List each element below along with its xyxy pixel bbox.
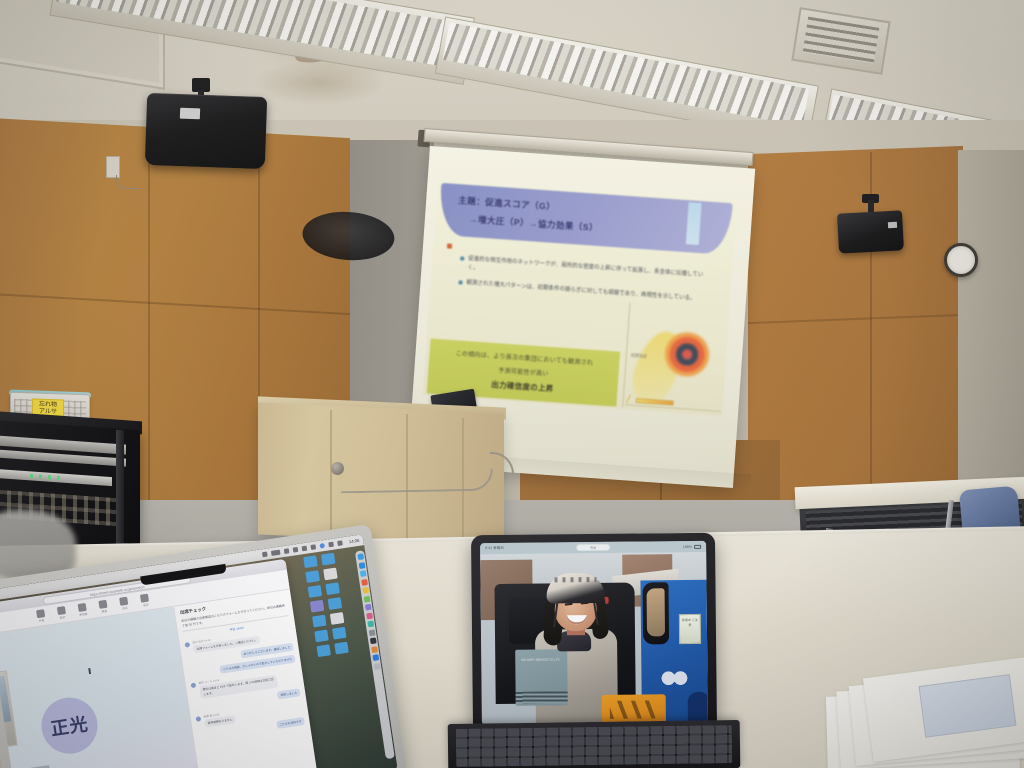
- ipad-screen[interactable]: 配達中 ご注意 DELIVERY SERVICE CO.,LTD.: [480, 541, 708, 725]
- music-icon[interactable]: [366, 612, 373, 619]
- photo-truck-sign-text: 配達中 ご注意: [681, 618, 699, 627]
- photo-viewer-image[interactable]: 配達中 ご注意 DELIVERY SERVICE CO.,LTD.: [480, 552, 708, 725]
- app-icon[interactable]: [310, 600, 324, 613]
- avatar: [191, 683, 197, 689]
- menubar-icon[interactable]: [283, 548, 289, 554]
- avatar: [184, 642, 190, 648]
- photo-crate-slots: [610, 700, 658, 719]
- rack-rail: [116, 430, 124, 549]
- toolbar-button-label: 表示: [59, 615, 65, 620]
- safari-icon[interactable]: [358, 562, 365, 569]
- lectern-cable: [341, 469, 493, 494]
- wall-speaker-right: [837, 210, 904, 253]
- wall-clock-icon: [944, 243, 978, 277]
- wall-speaker-left: [145, 93, 267, 169]
- folder-icon[interactable]: [321, 553, 335, 566]
- photo-truck-logo: [659, 670, 689, 686]
- toolbar-button[interactable]: 参加者: [78, 603, 88, 617]
- lectern-seam: [330, 410, 332, 538]
- slide-section-marker: [447, 243, 452, 248]
- lecture-room-scene: 主題：促進スコア（G） →増大圧（P）→協力効果（S） 促進的な相互作用のネット…: [0, 0, 1024, 768]
- ipad-magic-keyboard[interactable]: [448, 720, 741, 768]
- ipad-tablet[interactable]: 配達中 ご注意 DELIVERY SERVICE CO.,LTD.: [471, 533, 717, 734]
- toolbar-icon: [120, 597, 129, 606]
- toolbar-icon: [99, 600, 108, 609]
- toolbar-button-label: 反応: [122, 606, 128, 611]
- photo-bag-text: DELIVERY SERVICE CO.,LTD.: [521, 657, 561, 662]
- document-icon[interactable]: [323, 567, 337, 580]
- speaker-badge: [180, 108, 200, 120]
- projected-slide: 主題：促進スコア（G） →増大圧（P）→協力効果（S） 促進的な相互作用のネット…: [423, 181, 737, 416]
- terminal-icon[interactable]: [369, 637, 376, 644]
- folder-icon[interactable]: [334, 642, 348, 655]
- toolbar-icon: [140, 594, 149, 603]
- text-cursor: [88, 668, 91, 674]
- wifi-icon[interactable]: [328, 542, 334, 548]
- toolbar-button[interactable]: 共有: [36, 609, 46, 623]
- folder-icon[interactable]: [312, 615, 326, 628]
- bullet-square-icon: [458, 280, 462, 284]
- battery-icon[interactable]: [337, 540, 343, 546]
- messages-icon[interactable]: [364, 604, 371, 611]
- menubar-icon[interactable]: [262, 552, 268, 558]
- folder-icon[interactable]: [303, 555, 317, 568]
- avatar: [196, 716, 202, 722]
- toolbar-button[interactable]: 設定: [140, 594, 150, 608]
- bullet-square-icon: [460, 256, 464, 260]
- menubar-clock[interactable]: 14:06: [349, 538, 360, 544]
- notes-icon[interactable]: [362, 587, 369, 594]
- menubar-icon[interactable]: [270, 550, 280, 556]
- toolbar-icon: [57, 606, 66, 615]
- heatmap-axis-label: 相関強度: [631, 353, 647, 360]
- photo-helmet-vent: [554, 577, 596, 582]
- ipad-status-time: 9:41 金曜日: [485, 546, 504, 551]
- photo-bag-band: [516, 691, 568, 704]
- speaker-mount-stem: [868, 200, 874, 212]
- settings-icon[interactable]: [368, 629, 375, 636]
- menubar-icon[interactable]: [310, 544, 316, 550]
- chat-message-list[interactable]: 田中 正光 14:02出席フォームを共有しました。ご確認ください。ありがとうござ…: [184, 626, 305, 741]
- toolbar-icon: [36, 609, 45, 618]
- folder-icon[interactable]: [325, 582, 339, 595]
- folder-icon[interactable]: [308, 585, 322, 598]
- keyboard-keys[interactable]: [456, 725, 733, 767]
- slides-icon[interactable]: [371, 646, 378, 653]
- ipad-dynamic-pill[interactable]: 写真: [576, 544, 610, 551]
- ipad-status-battery: 100%: [683, 544, 701, 548]
- battery-icon: [694, 544, 701, 548]
- toolbar-button[interactable]: 録画: [99, 600, 109, 614]
- menubar-icon[interactable]: [301, 546, 307, 552]
- toolbar-button[interactable]: 表示: [57, 606, 67, 620]
- photo-truck-mirror-glass: [647, 588, 666, 636]
- chat-message-text: こちらも良好です: [276, 717, 305, 729]
- toolbar-icon: [78, 603, 87, 612]
- folder-icon[interactable]: [332, 627, 346, 640]
- menubar-icon[interactable]: [292, 547, 298, 553]
- wall-cable: [116, 175, 140, 189]
- zoom-icon[interactable]: [372, 654, 379, 661]
- mail-icon[interactable]: [359, 570, 366, 577]
- folder-icon[interactable]: [314, 629, 328, 642]
- control-center-icon[interactable]: [319, 543, 325, 549]
- finder-icon[interactable]: [357, 553, 364, 560]
- toolbar-button[interactable]: 反応: [120, 597, 130, 611]
- photos-icon[interactable]: [363, 595, 370, 602]
- shared-slide-canvas[interactable]: 正光 横: [0, 607, 202, 768]
- chat-message-text: 承知しました: [277, 688, 301, 699]
- photo-truck-wheel-well: [688, 692, 708, 724]
- maps-icon[interactable]: [367, 621, 374, 628]
- participant-avatar-1[interactable]: 正光: [38, 694, 102, 758]
- calendar-icon[interactable]: [361, 579, 368, 586]
- handout-stack[interactable]: [823, 659, 1024, 768]
- panel-seam: [148, 130, 150, 535]
- trash-icon[interactable]: [373, 663, 380, 670]
- toolbar-button-label: 設定: [143, 603, 149, 608]
- folder-icon[interactable]: [316, 644, 330, 657]
- toolbar-button-label: 参加者: [79, 612, 88, 617]
- toolbar-button-label: 共有: [39, 618, 45, 623]
- speaker-badge: [888, 222, 897, 228]
- document-icon[interactable]: [330, 612, 344, 625]
- folder-icon[interactable]: [305, 570, 319, 583]
- slide-heatmap-figure: 相関強度: [622, 302, 729, 414]
- battery-percent-label: 100%: [683, 544, 692, 548]
- folder-icon[interactable]: [328, 597, 342, 610]
- toolbar-button-label: 録画: [101, 609, 107, 614]
